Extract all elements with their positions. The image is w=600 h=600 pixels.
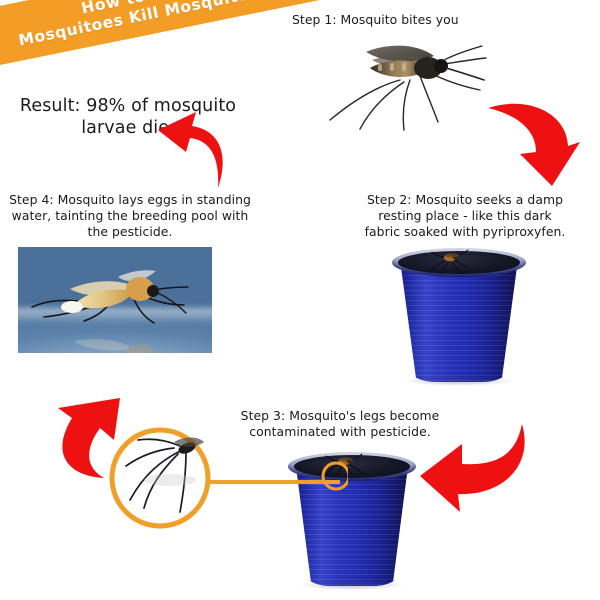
cup-body xyxy=(296,464,409,586)
arrow-step1-to-step2 xyxy=(484,88,588,192)
poster-title: How to Make Mosquitoes Kill Mosquitoes xyxy=(13,0,271,51)
cup-body xyxy=(400,260,518,382)
arrow-step4-to-result xyxy=(152,110,248,190)
step-1-caption: Step 1: Mosquito bites you xyxy=(292,12,542,28)
cup-shadow xyxy=(405,376,512,386)
magnified-mosquito-legs xyxy=(126,439,186,512)
magnifier-glass-reflection xyxy=(144,474,196,486)
step-4-caption: Step 4: Mosquito lays eggs in standing w… xyxy=(2,192,258,240)
arrow-step2-to-step3 xyxy=(418,418,530,518)
mosquito-laying-eggs-photo xyxy=(18,247,212,353)
cup-shadow xyxy=(301,580,403,590)
magnified-mosquito-body xyxy=(177,440,197,456)
poster-title-banner: How to Make Mosquitoes Kill Mosquitoes xyxy=(0,0,324,71)
blue-cup-step2 xyxy=(392,248,526,382)
infographic-poster: How to Make Mosquitoes Kill Mosquitoes R… xyxy=(0,0,600,600)
magnified-mosquito-wing xyxy=(174,438,204,447)
mosquito-illustration xyxy=(308,28,498,132)
arrow-step3-to-step4 xyxy=(28,388,132,480)
blue-cup-step3 xyxy=(288,452,416,586)
mosquito-on-fabric xyxy=(430,248,470,274)
mosquito-photo xyxy=(308,28,498,132)
mosquito-on-fabric xyxy=(324,452,364,478)
step-2-caption: Step 2: Mosquito seeks a damp resting pl… xyxy=(340,192,590,240)
mosquito-on-water-illustration xyxy=(18,247,212,353)
